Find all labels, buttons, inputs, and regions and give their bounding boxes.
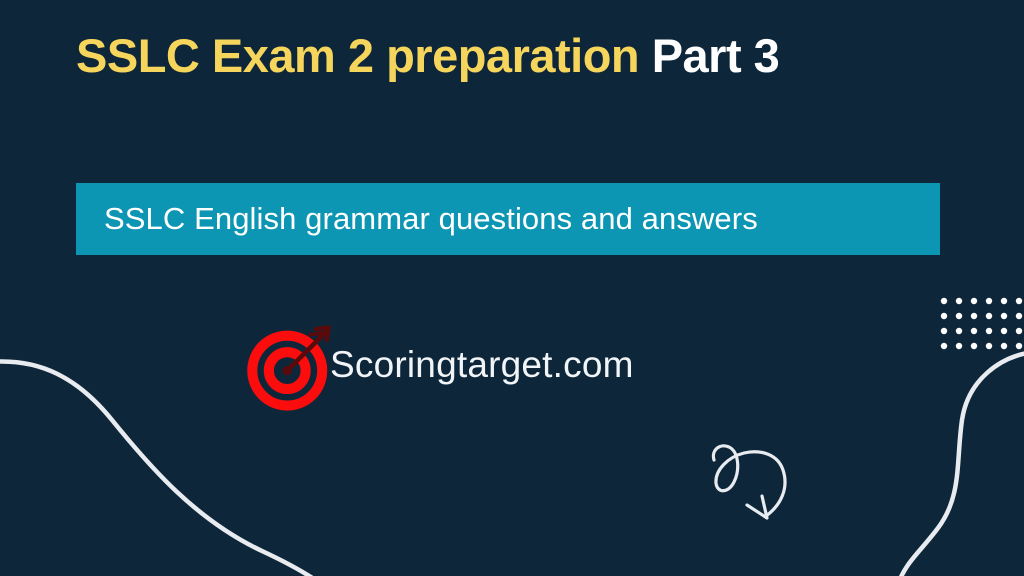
right-wave-line [898, 352, 1024, 576]
target-with-arrow-icon [244, 320, 336, 412]
brand-logo: Scoringtarget.com [244, 318, 634, 412]
dot-grid [941, 298, 1022, 349]
subtitle-banner: SSLC English grammar questions and answe… [76, 183, 940, 255]
title-plain: Part 3 [639, 29, 779, 82]
subtitle-text: SSLC English grammar questions and answe… [76, 201, 758, 237]
page-title: SSLC Exam 2 preparation Part 3 [76, 28, 779, 84]
brand-wordmark: Scoringtarget.com [330, 344, 634, 386]
curly-arrow-doodle [713, 446, 785, 518]
thumbnail-canvas: SSLC Exam 2 preparation Part 3 SSLC Engl… [0, 0, 1024, 576]
title-highlight: SSLC Exam 2 preparation [76, 29, 639, 82]
decoration-layer [0, 0, 1024, 576]
